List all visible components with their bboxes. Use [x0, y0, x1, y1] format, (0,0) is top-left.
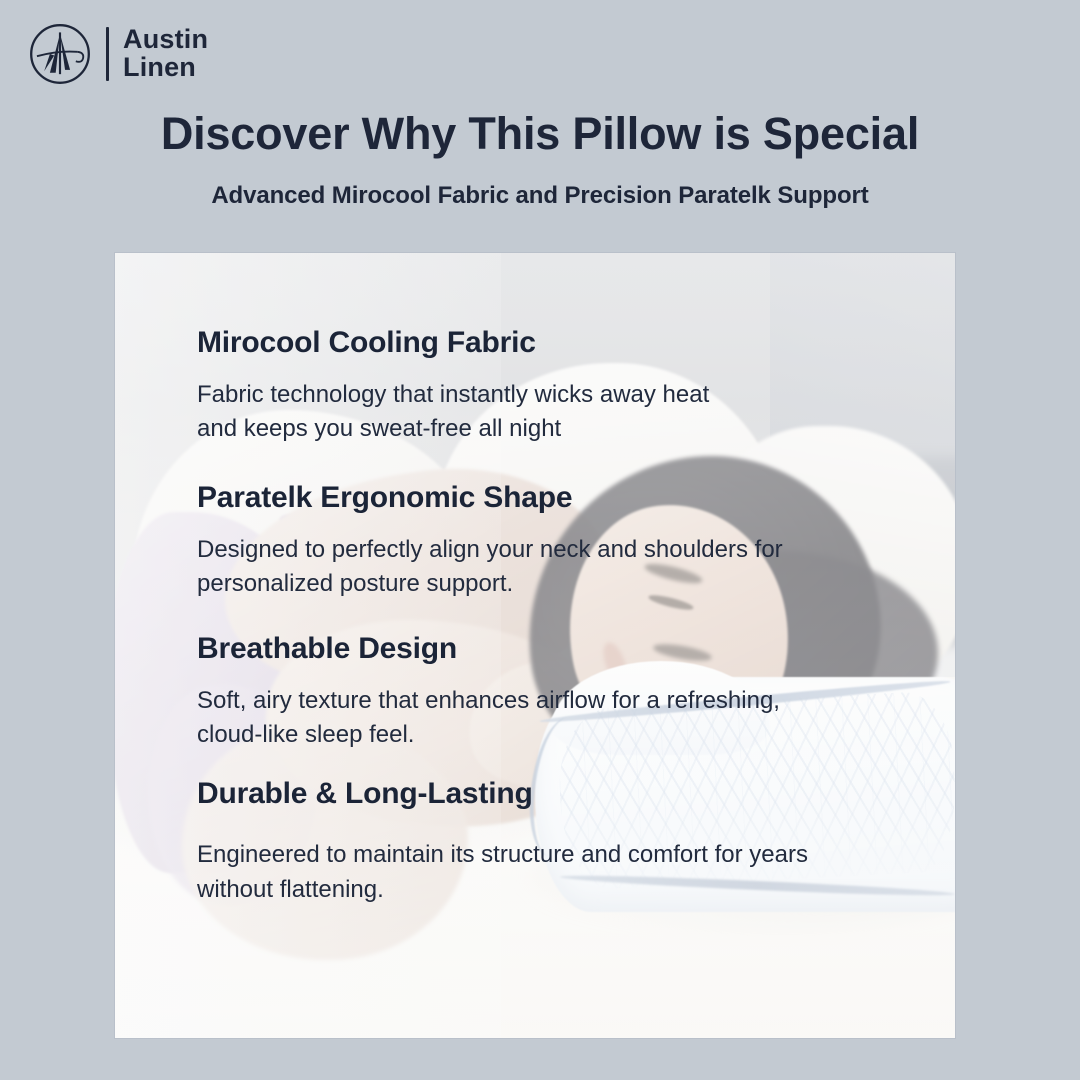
brand-line-2: Linen — [123, 54, 208, 82]
feature-title: Paratelk Ergonomic Shape — [197, 480, 917, 516]
logo-divider — [106, 27, 109, 81]
brand-logo[interactable]: Austin Linen — [24, 18, 208, 90]
promo-page: { "brand": { "logo_icon": "austin-linen-… — [0, 0, 1080, 1080]
feature-item: Mirocool Cooling Fabric Fabric technolog… — [197, 325, 917, 446]
feature-title: Mirocool Cooling Fabric — [197, 325, 917, 361]
feature-title: Durable & Long-Lasting — [197, 776, 917, 812]
feature-description-line: Engineered to maintain its structure and… — [197, 838, 877, 872]
feature-item: Durable & Long-Lasting Engineered to mai… — [197, 776, 917, 906]
feature-item: Paratelk Ergonomic Shape Designed to per… — [197, 480, 917, 601]
feature-description-line: cloud-like sleep feel. — [197, 718, 877, 752]
feature-description-line: without flattening. — [197, 873, 877, 907]
brand-wordmark: Austin Linen — [123, 26, 208, 81]
feature-description-line: personalized posture support. — [197, 567, 877, 601]
header-block: Discover Why This Pillow is Special Adva… — [0, 108, 1080, 210]
feature-description-line: Designed to perfectly align your neck an… — [197, 533, 877, 567]
feature-list: Mirocool Cooling Fabric Fabric technolog… — [197, 325, 917, 907]
feature-description-line: Fabric technology that instantly wicks a… — [197, 378, 877, 412]
feature-description-line: Soft, airy texture that enhances airflow… — [197, 684, 877, 718]
feature-item: Breathable Design Soft, airy texture tha… — [197, 631, 917, 752]
feature-description: Soft, airy texture that enhances airflow… — [197, 684, 877, 752]
feature-description: Engineered to maintain its structure and… — [197, 838, 877, 906]
austin-linen-monogram-icon — [24, 18, 96, 90]
feature-description-line: and keeps you sweat-free all night — [197, 412, 877, 446]
feature-description: Fabric technology that instantly wicks a… — [197, 378, 877, 446]
page-subtitle: Advanced Mirocool Fabric and Precision P… — [0, 182, 1080, 210]
feature-title: Breathable Design — [197, 631, 917, 667]
page-title: Discover Why This Pillow is Special — [0, 108, 1080, 160]
feature-description: Designed to perfectly align your neck an… — [197, 533, 877, 601]
brand-line-1: Austin — [123, 26, 208, 54]
